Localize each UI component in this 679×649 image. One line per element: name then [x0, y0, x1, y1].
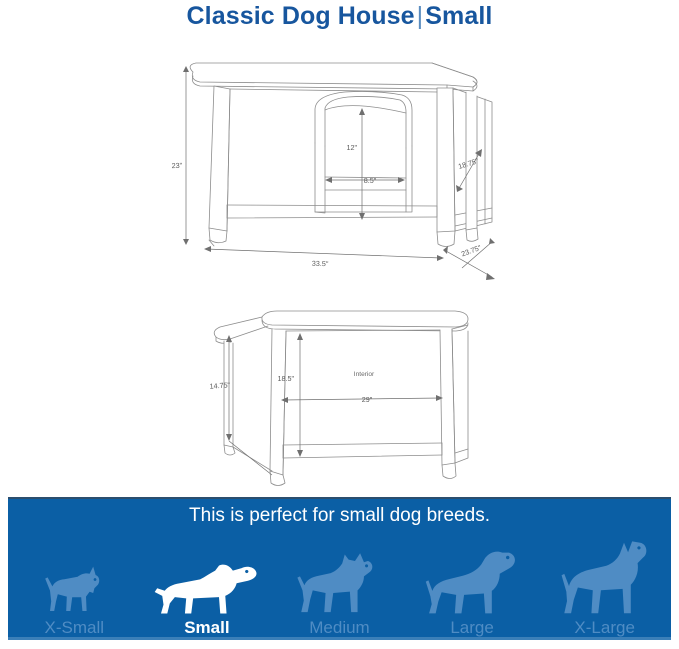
dim-overall-width: 33.5" [312, 259, 329, 269]
size-art-x-small [38, 544, 110, 616]
size-label-small: Small [184, 619, 229, 636]
size-options-row: X-Small Small Medium [8, 529, 671, 640]
size-art-x-large [556, 544, 654, 616]
dog-bulldog-icon [295, 552, 383, 616]
size-art-large [422, 544, 522, 616]
dim-rear-height: 14.75" [209, 380, 231, 390]
product-dimension-infographic: Classic Dog House|Small [0, 0, 679, 649]
dog-labrador-icon [422, 546, 522, 616]
size-art-medium [295, 544, 383, 616]
size-guide-banner: This is perfect for small dog breeds. X-… [8, 497, 671, 640]
size-label-x-large: X-Large [574, 619, 634, 636]
size-label-x-small: X-Small [45, 619, 105, 636]
size-option-x-small[interactable]: X-Small [8, 529, 141, 640]
size-option-x-large[interactable]: X-Large [538, 529, 671, 640]
dog-chihuahua-icon [38, 564, 110, 616]
size-option-medium[interactable]: Medium [273, 529, 406, 640]
dim-door-width: 8.5" [364, 176, 377, 185]
dim-overall-depth: 23.75" [460, 243, 483, 259]
size-option-small[interactable]: Small [141, 529, 274, 640]
size-label-large: Large [450, 619, 493, 636]
size-art-small [153, 544, 261, 616]
dim-overall-height: 23" [171, 161, 182, 170]
dog-dachshund-icon [153, 558, 261, 616]
dim-interior-width: 29" [362, 395, 373, 404]
diagram-rear-perspective: 14.75" 18.5" 29" Interior [0, 295, 679, 495]
size-label-medium: Medium [309, 619, 369, 636]
dim-interior-height: 18.5" [277, 374, 294, 383]
dim-door-height: 12" [346, 143, 357, 152]
dog-greatdane-icon [556, 540, 654, 616]
label-interior: Interior [354, 371, 375, 378]
banner-headline: This is perfect for small dog breeds. [8, 505, 671, 527]
size-option-large[interactable]: Large [406, 529, 539, 640]
diagram-front-perspective: 23" 12" 8.5" 18.75" 33.5" 23.75" [0, 0, 679, 300]
